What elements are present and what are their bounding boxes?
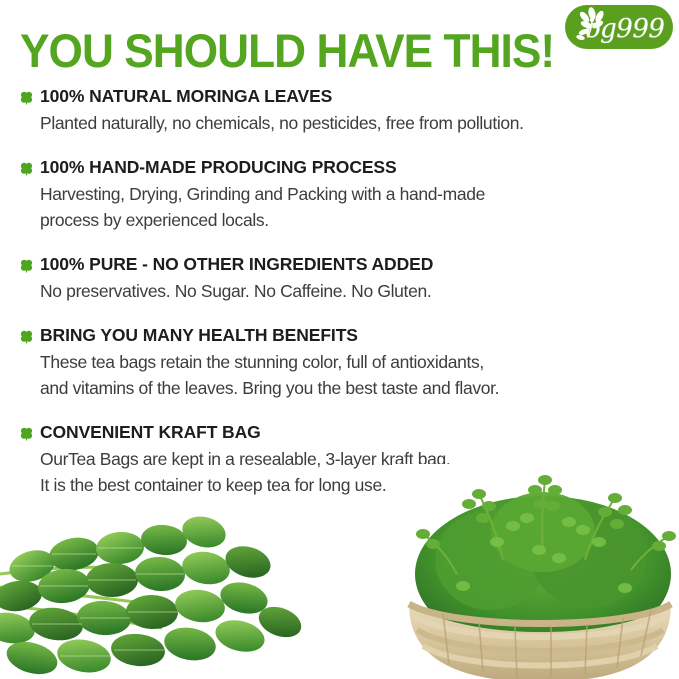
page-title: YOU SHOULD HAVE THIS! [20, 25, 554, 77]
feature-description: Harvesting, Drying, Grinding and Packing… [40, 181, 679, 233]
feature-description-line: Planted naturally, no chemicals, no pest… [40, 110, 679, 136]
brand-logo: og999 [565, 5, 673, 49]
feature-description-line: process by experienced locals. [40, 207, 679, 233]
feature-title: 100% PURE - NO OTHER INGREDIENTS ADDED [40, 254, 679, 275]
brand-logo-text: og999 [585, 12, 673, 46]
feature-item: BRING YOU MANY HEALTH BENEFITS These tea… [0, 325, 679, 401]
feature-description-line: and vitamins of the leaves. Bring you th… [40, 375, 679, 401]
clover-icon [19, 329, 34, 344]
clover-icon [19, 90, 34, 105]
feature-title: BRING YOU MANY HEALTH BENEFITS [40, 325, 679, 346]
feature-description-line: Harvesting, Drying, Grinding and Packing… [40, 181, 679, 207]
feature-item: 100% HAND-MADE PRODUCING PROCESS Harvest… [0, 157, 679, 233]
feature-description: These tea bags retain the stunning color… [40, 349, 679, 401]
product-feature-infographic: og999 YOU SHOULD HAVE THIS! 100% NATURAL… [0, 0, 679, 679]
moringa-basket-illustration [393, 464, 679, 679]
feature-title: CONVENIENT KRAFT BAG [40, 422, 679, 443]
moringa-basket-photo [393, 464, 679, 679]
feature-title: 100% HAND-MADE PRODUCING PROCESS [40, 157, 679, 178]
feature-title: 100% NATURAL MORINGA LEAVES [40, 86, 679, 107]
feature-list: 100% NATURAL MORINGA LEAVES Planted natu… [0, 86, 679, 498]
clover-icon [19, 258, 34, 273]
clover-icon [19, 426, 34, 441]
feature-description: No preservatives. No Sugar. No Caffeine.… [40, 278, 679, 304]
moringa-leaves-photo [0, 504, 312, 679]
feature-description-line: No preservatives. No Sugar. No Caffeine.… [40, 278, 679, 304]
moringa-leaves-illustration [0, 504, 312, 679]
clover-icon [19, 161, 34, 176]
feature-item: 100% PURE - NO OTHER INGREDIENTS ADDED N… [0, 254, 679, 304]
feature-item: 100% NATURAL MORINGA LEAVES Planted natu… [0, 86, 679, 136]
feature-description: Planted naturally, no chemicals, no pest… [40, 110, 679, 136]
feature-description-line: These tea bags retain the stunning color… [40, 349, 679, 375]
